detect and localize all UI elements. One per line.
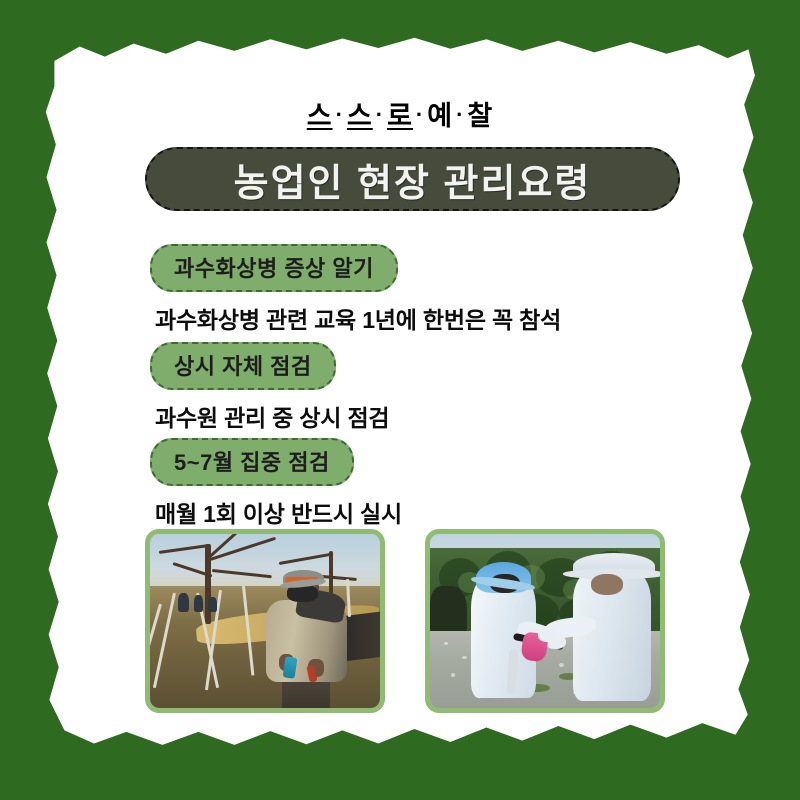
subtitle-char-4: 예 xyxy=(427,101,453,131)
protective-suit-photo xyxy=(425,529,665,713)
poster-root: 스·스·로·예·찰 농업인 현장 관리요령 과수화상병 증상 알기 과수화상병 … xyxy=(0,0,800,800)
section-3-heading-pill: 5~7월 집중 점검 xyxy=(150,438,354,486)
section-3: 5~7월 집중 점검 매월 1회 이상 반드시 실시 xyxy=(40,438,760,529)
main-title-pill: 농업인 현장 관리요령 xyxy=(145,147,680,211)
protective-suit-photo-image xyxy=(430,534,660,708)
section-1: 과수화상병 증상 알기 과수화상병 관련 교육 1년에 한번은 꼭 참석 xyxy=(40,244,760,335)
subtitle-char-3: 로 xyxy=(387,101,413,131)
poster-content: 스·스·로·예·찰 농업인 현장 관리요령 과수화상병 증상 알기 과수화상병 … xyxy=(40,32,760,758)
section-1-heading-pill: 과수화상병 증상 알기 xyxy=(150,244,398,292)
subtitle-char-2: 스 xyxy=(347,101,373,131)
section-2-heading-pill: 상시 자체 점검 xyxy=(150,342,336,390)
subtitle-separator-1: · xyxy=(333,102,347,128)
subtitle-separator-2: · xyxy=(373,102,387,128)
subtitle-separator-3: · xyxy=(413,102,427,128)
section-2: 상시 자체 점검 과수원 관리 중 상시 점검 xyxy=(40,342,760,433)
section-1-body: 과수화상병 관련 교육 1년에 한번은 꼭 참석 xyxy=(155,301,760,335)
subtitle-char-1: 스 xyxy=(307,101,333,131)
orchard-inspection-photo-image xyxy=(150,534,380,708)
section-3-heading: 5~7월 집중 점검 xyxy=(174,450,330,475)
page-title: 농업인 현장 관리요령 xyxy=(234,152,592,207)
section-2-heading: 상시 자체 점검 xyxy=(174,354,312,379)
subtitle-separator-4: · xyxy=(453,102,467,128)
torn-paper-card: 스·스·로·예·찰 농업인 현장 관리요령 과수화상병 증상 알기 과수화상병 … xyxy=(40,32,760,758)
section-3-body: 매월 1회 이상 반드시 실시 xyxy=(155,495,760,529)
section-1-heading: 과수화상병 증상 알기 xyxy=(174,256,374,281)
section-2-body: 과수원 관리 중 상시 점검 xyxy=(155,399,760,433)
poster-subtitle: 스·스·로·예·찰 xyxy=(40,94,760,133)
photo-row xyxy=(40,529,760,729)
orchard-inspection-photo xyxy=(145,529,385,713)
subtitle-char-5: 찰 xyxy=(467,101,493,131)
